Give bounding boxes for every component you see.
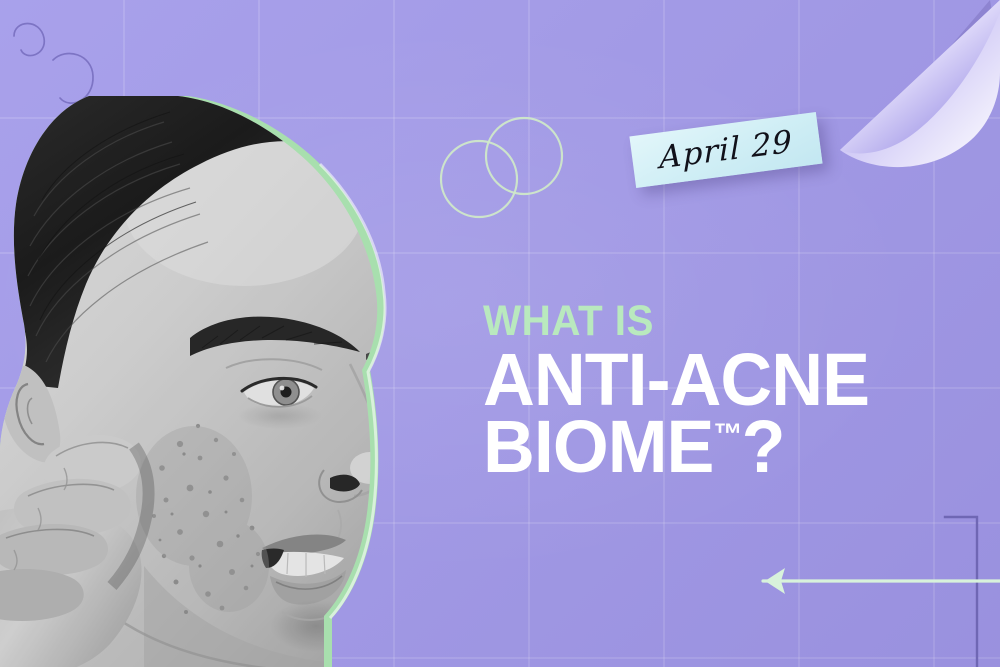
date-badge-text: April 29 <box>659 124 793 177</box>
arrow-decoration <box>745 505 1000 667</box>
headline-question-mark: ? <box>742 405 785 488</box>
headline-line-1: ANTI-ACNE <box>483 347 968 414</box>
headline-line-2: BIOME™? <box>483 414 968 481</box>
portrait-image <box>0 96 424 667</box>
headline-eyebrow: WHAT IS <box>483 300 953 343</box>
headline-line-2-text: BIOME <box>483 405 713 488</box>
overlapping-circles-icon <box>432 112 568 224</box>
headline-block: WHAT IS ANTI-ACNE BIOME™? <box>483 300 983 480</box>
trademark-symbol: ™ <box>713 418 741 451</box>
promo-banner: April 29 <box>0 0 1000 667</box>
